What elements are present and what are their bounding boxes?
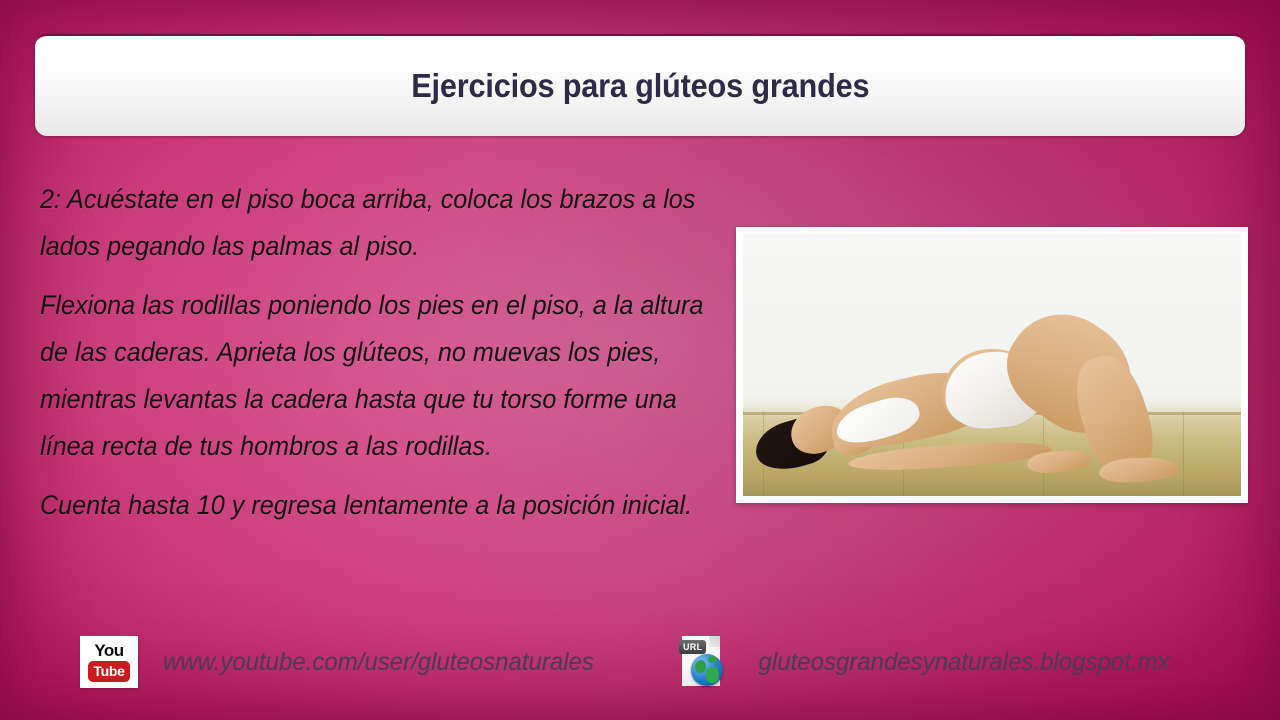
title-bar: Ejercicios para glúteos grandes	[35, 34, 1245, 136]
instruction-paragraph-2: Flexiona las rodillas poniendo los pies …	[40, 282, 705, 470]
youtube-logo-tube: Tube	[88, 661, 129, 682]
globe-landmass-north	[708, 656, 717, 663]
url-page-fold	[709, 636, 720, 647]
instruction-paragraph-1: 2: Acuéstate en el piso boca arriba, col…	[40, 176, 705, 270]
footer: You Tube www.youtube.com/user/gluteosnat…	[0, 622, 1280, 720]
footer-youtube-link[interactable]: You Tube www.youtube.com/user/gluteosnat…	[80, 636, 603, 688]
globe-landmass-south	[706, 667, 719, 683]
blog-url-text: gluteosgrandesynaturales.blogspot.mx	[759, 648, 1170, 677]
url-file-icon: URL	[678, 634, 734, 690]
exercise-photo	[743, 234, 1241, 496]
globe-landmass-west	[695, 660, 706, 673]
youtube-logo-you: You	[94, 642, 123, 659]
instructions-column: 2: Acuéstate en el piso boca arriba, col…	[40, 176, 740, 529]
instruction-paragraph-3: Cuenta hasta 10 y regresa lentamente a l…	[40, 482, 705, 529]
figure-glute-bridge	[743, 234, 1241, 496]
youtube-icon: You Tube	[80, 636, 138, 688]
youtube-url-text: www.youtube.com/user/gluteosnaturales	[163, 648, 594, 677]
footer-blog-link[interactable]: URL gluteosgrandesynaturales.blogspot.mx	[678, 634, 1178, 690]
exercise-photo-frame	[736, 227, 1248, 503]
globe-icon	[691, 654, 723, 686]
slide-canvas: Ejercicios para glúteos grandes 2: Acués…	[0, 0, 1280, 720]
url-badge-label: URL	[679, 640, 706, 654]
page-title: Ejercicios para glúteos grandes	[411, 67, 869, 105]
